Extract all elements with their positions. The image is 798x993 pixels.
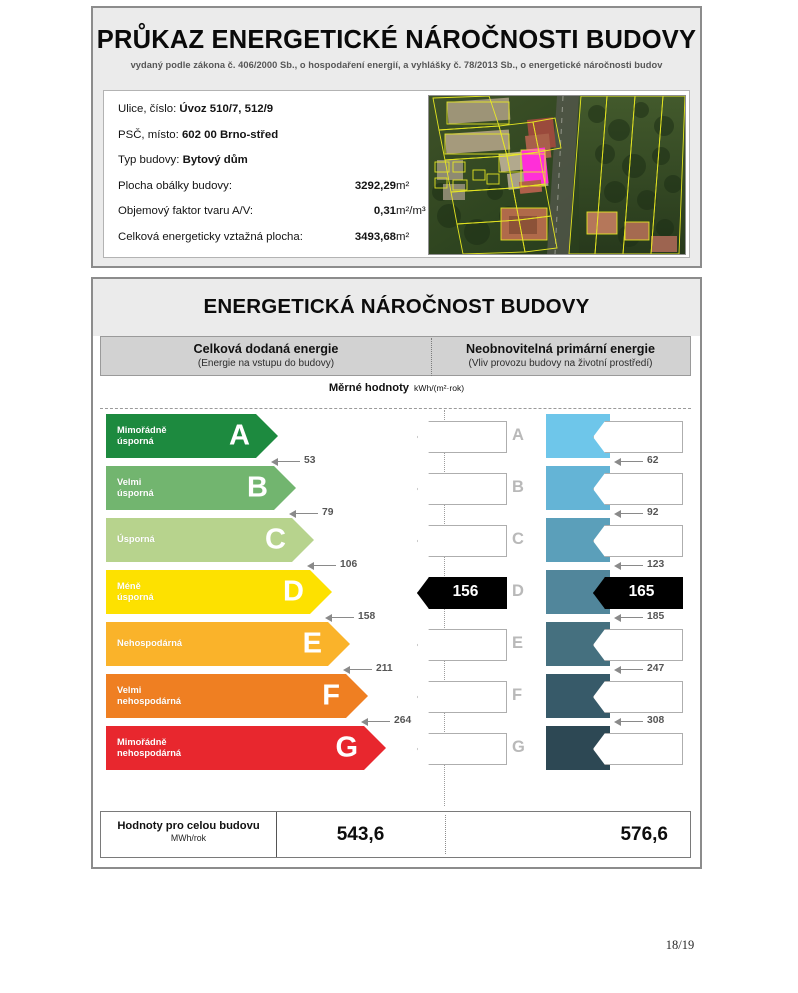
field-envelope-area-label: Plocha obálky budovy: — [118, 180, 232, 192]
pointer-shape — [593, 421, 683, 453]
field-street-value: Úvoz 510/7, 512/9 — [179, 103, 273, 115]
summary-primary-value: 576,6 — [446, 812, 690, 857]
primary-pointer-A — [593, 421, 681, 451]
field-envelope-area-value: 3292,29 — [355, 180, 396, 192]
field-reference-area: Celková energeticky vztažná plocha: 3493… — [118, 231, 448, 257]
primary-pointer-B — [593, 473, 681, 503]
specific-values-unit: kWh/(m²·rok) — [414, 383, 464, 393]
energy-class-bar-D: MéněúspornáD — [106, 570, 310, 614]
threshold-value: 62 — [647, 455, 658, 466]
document-header-panel: PRŮKAZ ENERGETICKÉ NÁROČNOSTI BUDOVY vyd… — [91, 6, 702, 268]
pointer-shape — [417, 525, 507, 557]
primary-pointer-F — [593, 681, 681, 711]
threshold-value: 211 — [376, 663, 393, 674]
threshold-arrow-icon — [614, 666, 621, 674]
threshold-line — [621, 617, 643, 618]
threshold-value: 53 — [304, 455, 315, 466]
field-shape-factor-value: 0,31 — [374, 205, 396, 217]
threshold-line — [278, 461, 300, 462]
delivered-pointer-F — [417, 681, 505, 711]
energy-class-bar-E: NehospodárnáE — [106, 622, 328, 666]
energy-class-bar-tip — [256, 414, 278, 458]
pointer-shape — [417, 473, 507, 505]
threshold-arrow-icon — [614, 718, 621, 726]
energy-class-label-word: Nehospodárná — [117, 638, 182, 650]
energy-class-letter-F: F — [322, 682, 340, 711]
threshold-line — [332, 617, 354, 618]
specific-values-label: Měrné hodnotykWh/(m²·rok) — [93, 382, 700, 394]
threshold-line — [296, 513, 318, 514]
energy-class-label-C: Úsporná — [117, 518, 155, 562]
field-postcode-city-value: 602 00 Brno-střed — [182, 129, 278, 141]
page-title: PRŮKAZ ENERGETICKÉ NÁROČNOSTI BUDOVY — [93, 26, 700, 55]
energy-class-bar-tip — [274, 466, 296, 510]
energy-class-label-E: Nehospodárná — [117, 622, 182, 666]
delivered-pointer-G — [417, 733, 505, 763]
threshold-line — [314, 565, 336, 566]
threshold-value: 123 — [647, 559, 664, 570]
threshold-arrow-icon — [614, 458, 621, 466]
pointer-shape — [417, 421, 507, 453]
field-postcode-city: PSČ, místo: 602 00 Brno-střed — [118, 129, 448, 155]
energy-class-label-word: Velmi — [117, 477, 154, 489]
pointer-shape — [593, 681, 683, 713]
primary-pointer-D: 165 — [593, 577, 681, 607]
energy-class-letter-A: A — [229, 422, 250, 451]
threshold-value: 106 — [340, 559, 357, 570]
energy-class-letter-E: E — [303, 630, 322, 659]
energy-column-headers: Celková dodaná energie (Energie na vstup… — [100, 336, 691, 376]
field-reference-area-label: Celková energeticky vztažná plocha: — [118, 231, 303, 243]
energy-class-label-word: Mimořádně — [117, 425, 167, 437]
delivered-value: 156 — [417, 577, 505, 607]
aerial-photo-image — [429, 96, 685, 254]
primary-pointer-C — [593, 525, 681, 555]
threshold-arrow-icon — [307, 562, 314, 570]
energy-class-label-word: Méně — [117, 581, 154, 593]
summary-delivered-value: 543,6 — [277, 812, 444, 857]
field-building-type-label: Typ budovy: — [118, 154, 179, 166]
threshold-arrow-icon — [289, 510, 296, 518]
delivered-pointer-letter-B: B — [512, 479, 524, 496]
primary-pointer-G — [593, 733, 681, 763]
threshold-line — [368, 721, 390, 722]
threshold-value: 79 — [322, 507, 333, 518]
threshold-arrow-icon — [361, 718, 368, 726]
threshold-arrow-icon — [325, 614, 332, 622]
primary-pointer-E — [593, 629, 681, 659]
page-subtitle: vydaný podle zákona č. 406/2000 Sb., o h… — [93, 60, 700, 70]
energy-section-title: ENERGETICKÁ NÁROČNOST BUDOVY — [93, 295, 700, 319]
summary-label-cell: Hodnoty pro celou budovu MWh/rok — [101, 812, 277, 857]
field-building-type: Typ budovy: Bytový dům — [118, 154, 448, 180]
field-building-type-value: Bytový dům — [183, 154, 248, 166]
delivered-pointer-B — [417, 473, 505, 503]
threshold-value: 185 — [647, 611, 664, 622]
delivered-pointer-letter-D: D — [512, 583, 524, 600]
energy-class-letter-G: G — [335, 734, 358, 763]
energy-class-label-A: Mimořádněúsporná — [117, 414, 167, 458]
threshold-value: 92 — [647, 507, 658, 518]
energy-title-band: ENERGETICKÁ NÁROČNOST BUDOVY — [93, 279, 700, 336]
column-header-primary-sub: (Vliv provozu budovy na životní prostřed… — [431, 358, 690, 369]
pointer-shape — [593, 733, 683, 765]
delivered-pointer-E — [417, 629, 505, 659]
column-header-delivered-sub: (Energie na vstupu do budovy) — [101, 358, 431, 369]
energy-class-scale: MimořádněúspornáA53A62VelmiúspornáB79B92… — [93, 410, 700, 810]
pointer-shape — [593, 473, 683, 505]
threshold-line — [621, 721, 643, 722]
delivered-pointer-letter-E: E — [512, 635, 523, 652]
energy-class-bar-tip — [364, 726, 386, 770]
document-page: PRŮKAZ ENERGETICKÉ NÁROČNOSTI BUDOVY vyd… — [0, 0, 798, 993]
energy-class-bar-tip — [346, 674, 368, 718]
energy-class-label-word: Mimořádně — [117, 737, 181, 749]
energy-class-label-D: Méněúsporná — [117, 570, 154, 614]
threshold-line — [350, 669, 372, 670]
field-shape-factor-label: Objemový faktor tvaru A/V: — [118, 205, 253, 217]
column-header-delivered-title: Celková dodaná energie — [101, 342, 431, 356]
energy-class-label-F: Velminehospodárná — [117, 674, 181, 718]
energy-performance-panel: ENERGETICKÁ NÁROČNOST BUDOVY Celková dod… — [91, 277, 702, 869]
pointer-shape — [417, 681, 507, 713]
delivered-pointer-letter-F: F — [512, 687, 522, 704]
energy-class-label-B: Velmiúsporná — [117, 466, 154, 510]
energy-class-bar-tip — [328, 622, 350, 666]
energy-class-bar-B: VelmiúspornáB — [106, 466, 274, 510]
pointer-shape — [417, 733, 507, 765]
energy-class-letter-B: B — [247, 474, 268, 503]
aerial-photo — [428, 95, 686, 255]
energy-class-label-word: nehospodárná — [117, 696, 181, 708]
column-header-primary: Neobnovitelná primární energie (Vliv pro… — [431, 337, 690, 377]
delivered-pointer-A — [417, 421, 505, 451]
energy-class-label-G: Mimořádněnehospodárná — [117, 726, 181, 770]
threshold-value: 264 — [394, 715, 411, 726]
delivered-pointer-D: 156 — [417, 577, 505, 607]
primary-value: 165 — [593, 577, 681, 607]
threshold-arrow-icon — [614, 510, 621, 518]
threshold-arrow-icon — [271, 458, 278, 466]
threshold-line — [621, 513, 643, 514]
pointer-shape — [417, 629, 507, 661]
energy-class-label-word: úsporná — [117, 592, 154, 604]
energy-class-bar-tip — [310, 570, 332, 614]
delivered-pointer-letter-A: A — [512, 427, 524, 444]
whole-building-summary-row: Hodnoty pro celou budovu MWh/rok 543,6 5… — [100, 811, 691, 858]
energy-class-bar-tip — [292, 518, 314, 562]
energy-class-label-word: Úsporná — [117, 534, 155, 546]
threshold-value: 158 — [358, 611, 375, 622]
threshold-line — [621, 669, 643, 670]
delivered-pointer-C — [417, 525, 505, 555]
building-identification-box: Ulice, číslo: Úvoz 510/7, 512/9 PSČ, mís… — [103, 90, 690, 258]
delivered-pointer-letter-C: C — [512, 531, 524, 548]
field-street: Ulice, číslo: Úvoz 510/7, 512/9 — [118, 103, 448, 129]
field-envelope-area: Plocha obálky budovy: 3292,29 m² — [118, 180, 448, 206]
energy-class-label-word: úsporná — [117, 488, 154, 500]
pointer-shape — [593, 629, 683, 661]
energy-class-label-word: Velmi — [117, 685, 181, 697]
energy-class-bar-F: VelminehospodárnáF — [106, 674, 346, 718]
page-number: 18/19 — [640, 938, 720, 953]
threshold-arrow-icon — [614, 562, 621, 570]
threshold-line — [621, 565, 643, 566]
delivered-pointer-letter-G: G — [512, 739, 525, 756]
energy-class-bar-A: MimořádněúspornáA — [106, 414, 256, 458]
energy-class-letter-D: D — [283, 578, 304, 607]
pointer-shape — [593, 525, 683, 557]
energy-class-label-word: úsporná — [117, 436, 167, 448]
threshold-line — [621, 461, 643, 462]
energy-class-label-word: nehospodárná — [117, 748, 181, 760]
summary-unit: MWh/rok — [101, 833, 276, 843]
summary-label: Hodnoty pro celou budovu — [101, 820, 276, 832]
column-header-delivered: Celková dodaná energie (Energie na vstup… — [101, 337, 431, 377]
horizontal-dotted-divider — [100, 408, 691, 409]
energy-class-bar-G: MimořádněnehospodárnáG — [106, 726, 364, 770]
specific-values-text: Měrné hodnoty — [329, 382, 409, 394]
threshold-value: 247 — [647, 663, 664, 674]
threshold-arrow-icon — [343, 666, 350, 674]
building-identification-fields: Ulice, číslo: Úvoz 510/7, 512/9 PSČ, mís… — [118, 103, 448, 256]
energy-class-letter-C: C — [265, 526, 286, 555]
column-header-primary-title: Neobnovitelná primární energie — [431, 342, 690, 356]
field-street-label: Ulice, číslo: — [118, 103, 176, 115]
field-postcode-city-label: PSČ, místo: — [118, 129, 179, 141]
field-reference-area-value: 3493,68 — [355, 231, 396, 243]
field-shape-factor: Objemový faktor tvaru A/V: 0,31 m²/m³ — [118, 205, 448, 231]
energy-class-bar-C: ÚspornáC — [106, 518, 292, 562]
threshold-arrow-icon — [614, 614, 621, 622]
threshold-value: 308 — [647, 715, 664, 726]
